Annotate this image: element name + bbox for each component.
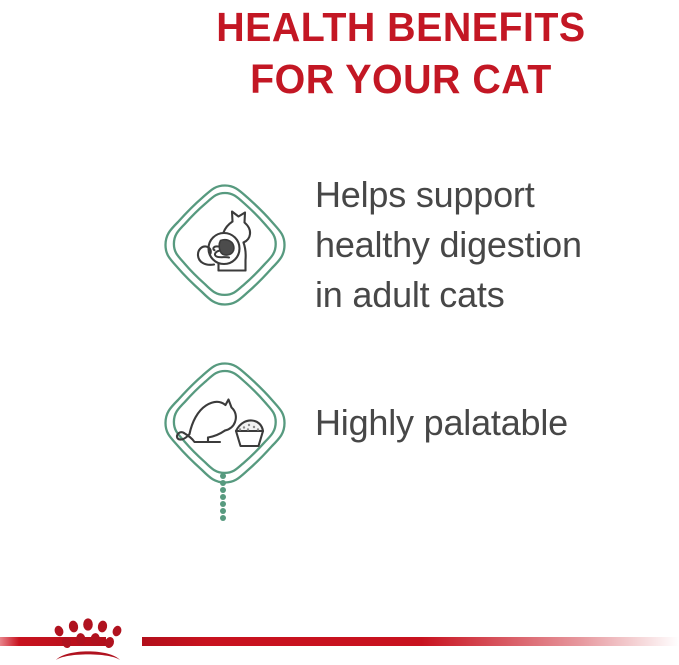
connector-dot	[220, 515, 226, 521]
title-line-1: HEALTH BENEFITS	[14, 2, 666, 54]
benefit-item-palatable: Highly palatable	[0, 360, 679, 486]
connector-dot	[220, 501, 226, 507]
connector-dot	[220, 508, 226, 514]
benefit-item-digestion: Helps support healthy digestion in adult…	[0, 170, 679, 320]
footer-bar-right	[142, 637, 679, 646]
page-title: HEALTH BENEFITS FOR YOUR CAT	[0, 2, 679, 105]
connector-dot	[220, 487, 226, 493]
title-line-2: FOR YOUR CAT	[14, 54, 666, 106]
brand-footer	[0, 600, 679, 665]
benefit-text-palatable: Highly palatable	[315, 398, 568, 448]
cat-digestion-icon	[162, 182, 288, 308]
royal-canin-crown-icon	[48, 618, 128, 662]
benefits-list: Helps support healthy digestion in adult…	[0, 150, 679, 530]
cat-eating-bowl-icon	[162, 360, 288, 486]
connector-dot	[220, 494, 226, 500]
benefit-text-digestion: Helps support healthy digestion in adult…	[315, 170, 582, 320]
health-benefits-panel: HEALTH BENEFITS FOR YOUR CAT	[0, 0, 679, 665]
